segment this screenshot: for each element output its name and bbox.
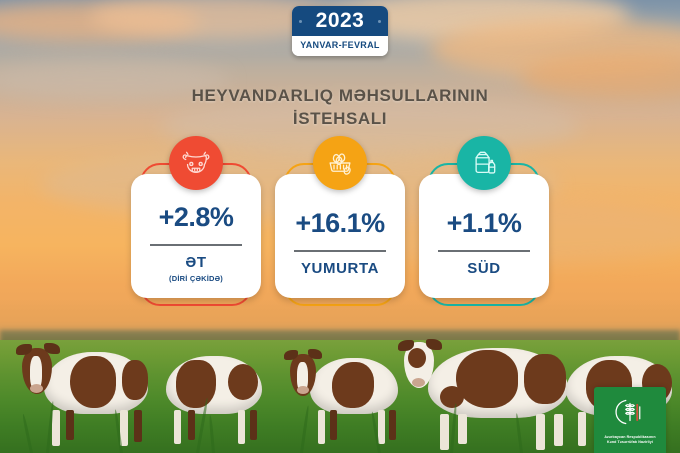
stat-card-body-milk: +1.1% SÜD: [419, 174, 549, 298]
egg-basket-icon: [313, 136, 367, 190]
ministry-logo-text: Azərbaycan Respublikasının Kənd Təsərrüf…: [604, 435, 655, 445]
ministry-name-line-2: Kənd Təsərrüfatı Nazirliyi: [604, 440, 655, 445]
cow-head-icon: [169, 136, 223, 190]
badge-period: YANVAR-FEVRAL: [292, 36, 388, 56]
stat-card-body-eggs: +16.1% YUMURTA: [275, 174, 405, 298]
milk-bottle-icon: [457, 136, 511, 190]
stat-label-eggs: YUMURTA: [301, 261, 379, 276]
stat-value-meat: +2.8%: [159, 204, 234, 231]
badge-year: 2023: [292, 6, 388, 36]
stat-label-meat: ƏT: [185, 255, 206, 270]
wheat-crescent-icon: [613, 397, 647, 432]
infographic-poster: 2023 YANVAR-FEVRAL HEYVANDARLIQ MƏHSULLA…: [0, 0, 680, 453]
stat-card-body-meat: +2.8% ƏT (DİRİ ÇƏKİDƏ): [131, 174, 261, 298]
cow-photo-right: [400, 328, 580, 452]
page-title: HEYVANDARLIQ MƏHSULLARININ İSTEHSALI: [0, 84, 680, 131]
stat-value-milk: +1.1%: [447, 210, 522, 237]
divider: [438, 250, 530, 252]
divider: [294, 250, 386, 252]
stat-sublabel-meat: (DİRİ ÇƏKİDƏ): [169, 275, 223, 283]
stat-label-milk: SÜD: [467, 261, 500, 276]
page-title-line-1: HEYVANDARLIQ MƏHSULLARININ: [0, 84, 680, 107]
date-badge: 2023 YANVAR-FEVRAL: [292, 6, 388, 56]
cow-photo-left: [18, 330, 158, 448]
page-title-line-2: İSTEHSALI: [0, 107, 680, 130]
stat-value-eggs: +16.1%: [295, 210, 384, 237]
ministry-logo: Azərbaycan Respublikasının Kənd Təsərrüf…: [594, 387, 666, 453]
divider: [150, 244, 242, 246]
